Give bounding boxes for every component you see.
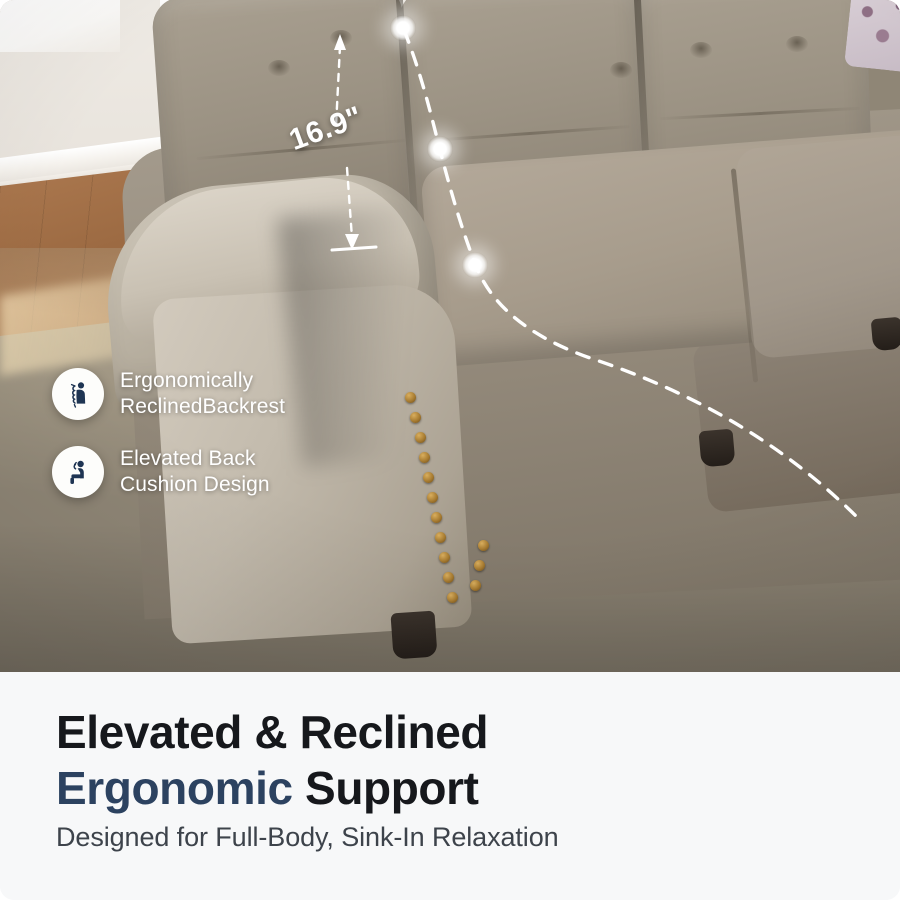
- feature-callout-list: Ergonomically ReclinedBackrest: [52, 368, 392, 524]
- callout-line-1: Ergonomically: [120, 368, 285, 394]
- headline-accent-word: Ergonomic: [56, 762, 293, 814]
- feature-callout-ergonomically-reclined-backrest: Ergonomically ReclinedBackrest: [52, 368, 392, 420]
- callout-line-2: ReclinedBackrest: [120, 394, 285, 420]
- feature-callout-elevated-back-cushion-design: Elevated Back Cushion Design: [52, 446, 392, 498]
- headline-line-2: Ergonomic Support: [56, 760, 488, 816]
- text-panel: Elevated & Reclined Ergonomic Support De…: [0, 672, 900, 900]
- product-photo: 16.9" Ergonomically: [0, 0, 900, 672]
- feature-callout-label: Ergonomically ReclinedBackrest: [120, 368, 285, 419]
- seated-person-icon: [52, 446, 104, 498]
- headline-rest-word: Support: [293, 762, 479, 814]
- posture-spine-icon: [52, 368, 104, 420]
- contour-dot-bottom: [462, 252, 488, 278]
- subheadline: Designed for Full-Body, Sink-In Relaxati…: [56, 822, 559, 853]
- headline-line-1: Elevated & Reclined: [56, 704, 488, 760]
- callout-line-1: Elevated Back: [120, 446, 270, 472]
- contour-dot-top: [390, 15, 416, 41]
- product-feature-card: 16.9" Ergonomically: [0, 0, 900, 900]
- callout-line-2: Cushion Design: [120, 472, 270, 498]
- headline: Elevated & Reclined Ergonomic Support: [56, 704, 488, 816]
- annotation-overlay: 16.9": [0, 0, 900, 672]
- feature-callout-label: Elevated Back Cushion Design: [120, 446, 270, 497]
- contour-dot-middle: [427, 136, 453, 162]
